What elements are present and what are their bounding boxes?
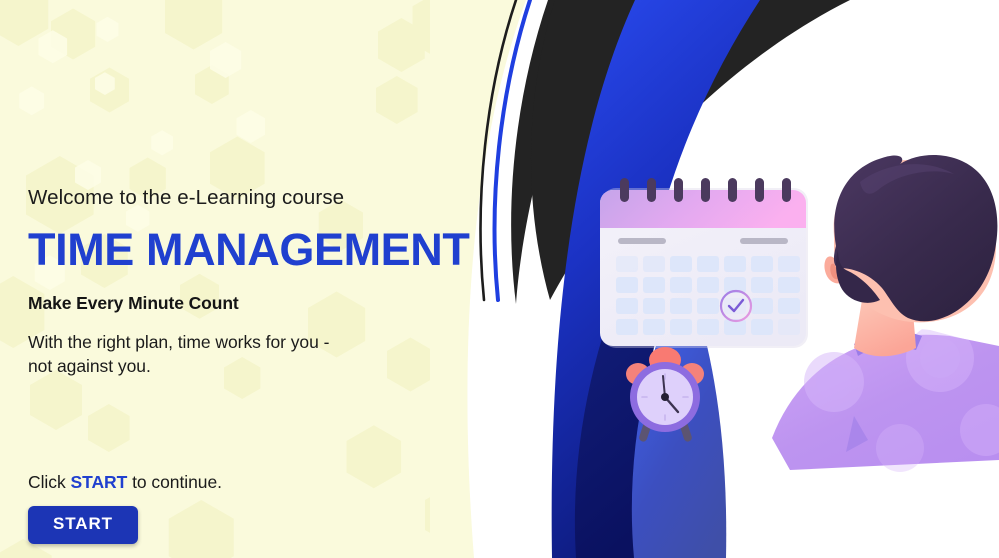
course-illustration	[430, 0, 999, 558]
illustration-panel	[430, 0, 999, 558]
cta-instruction: Click START to continue.	[28, 472, 222, 493]
calendar-illustration	[600, 178, 808, 348]
body-copy-line-1: With the right plan, time works for you …	[28, 331, 498, 354]
tagline: Make Every Minute Count	[28, 293, 498, 314]
body-copy-line-2: not against you.	[28, 355, 498, 378]
page-title: TIME MANAGEMENT	[28, 227, 498, 273]
clock-center-pin	[661, 393, 669, 401]
start-button[interactable]: START	[28, 506, 138, 544]
welcome-eyebrow: Welcome to the e-Learning course	[28, 186, 498, 211]
cta-instruction-keyword: START	[70, 472, 127, 492]
cta-block: Click START to continue. START	[28, 472, 222, 544]
body-copy: With the right plan, time works for you …	[28, 331, 498, 377]
cta-instruction-prefix: Click	[28, 472, 70, 492]
headline-text-block: Welcome to the e-Learning course TIME MA…	[28, 186, 498, 378]
slide-root: Welcome to the e-Learning course TIME MA…	[0, 0, 999, 558]
cta-instruction-suffix: to continue.	[127, 472, 222, 492]
